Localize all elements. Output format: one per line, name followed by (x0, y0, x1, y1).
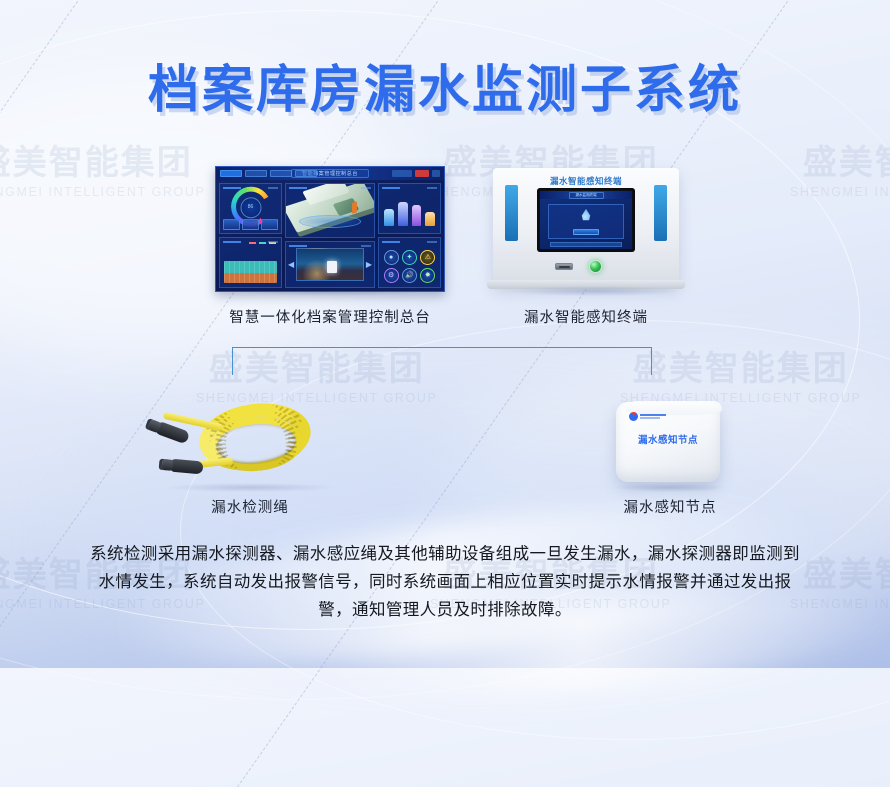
watermark-cn: 盛美智能集团 (790, 146, 890, 182)
terminal-shadow (509, 286, 679, 296)
section-bracket-line (232, 347, 652, 375)
watermark: 盛美智能集团 SHENGMEI INTELLIGENT GROUP (790, 146, 890, 202)
dashboard-column-middle: ◀ ▶ (285, 183, 375, 288)
brand-mark-icon (629, 412, 638, 421)
alert-icon[interactable]: ⚠ (420, 250, 435, 265)
terminal-screen[interactable]: 漏水监测终端 (537, 188, 635, 252)
dashboard-header-right (392, 170, 440, 177)
brand-logo (629, 412, 666, 421)
dashboard-column-left: 86 (219, 183, 282, 288)
access-control-icon[interactable]: ✸ (420, 268, 435, 283)
device-icon[interactable]: ⚙ (384, 268, 399, 283)
bar-chart (384, 196, 435, 226)
terminal-ui-header: 漏水监测终端 (540, 191, 632, 199)
terminal-ui-title: 漏水监测终端 (569, 192, 604, 199)
terminal-device-label: 漏水智能感知终端 (493, 175, 679, 187)
product-console: 智能档案管理控制总台 86 (196, 166, 464, 327)
terminal-left-accent (505, 185, 518, 241)
model-podium (299, 215, 361, 228)
terminal-right-accent (654, 185, 667, 241)
panel-video-monitor[interactable]: ◀ ▶ (285, 241, 375, 288)
product-node: 漏水感知节点 漏水感知节点 (590, 400, 750, 517)
status-indicator-button[interactable] (589, 260, 602, 273)
panel-trend-chart[interactable] (219, 237, 282, 288)
watermark-en: SHENGMEI INTELLIGENT GROUP (790, 594, 890, 614)
terminal-confirm-button[interactable] (573, 229, 599, 235)
panel-realtime-bars[interactable] (378, 183, 441, 234)
panel-3d-model[interactable] (285, 183, 375, 238)
terminal-device[interactable]: 漏水智能感知终端 漏水监测终端 (493, 168, 679, 286)
panel-environment-gauge[interactable]: 86 (219, 183, 282, 234)
watermark-en: SHENGMEI INTELLIGENT GROUP (790, 182, 890, 202)
video-thumbnail (296, 248, 364, 281)
rope-connector-upper (154, 421, 190, 445)
node-shadow (614, 483, 726, 492)
leak-sensor-node: 漏水感知节点 (610, 400, 730, 492)
watermark-cn: 盛美智能集团 (620, 352, 861, 388)
node-caption: 漏水感知节点 (590, 496, 750, 517)
watermark: 盛美智能集团 SHENGMEI INTELLIGENT GROUP (0, 146, 205, 202)
watermark-cn: 盛美智能集团 (0, 146, 205, 182)
rope-shadow (165, 483, 335, 492)
rope-caption: 漏水检测绳 (120, 496, 380, 517)
chart-legend (249, 242, 276, 244)
next-arrow-icon[interactable]: ▶ (366, 261, 372, 269)
rope-connector-lower (168, 459, 203, 475)
node-face-text: 漏水感知节点 (616, 432, 720, 446)
product-terminal: 漏水智能感知终端 漏水监测终端 漏水智能感知终端 (486, 168, 686, 327)
gauge-stat-chips (223, 219, 278, 230)
panel-function-menu[interactable]: ● ✦ ⚠ ⚙ 🔊 ✸ (378, 237, 441, 288)
environment-icon[interactable]: ✦ (402, 250, 417, 265)
prev-arrow-icon[interactable]: ◀ (288, 261, 294, 269)
dashboard-column-right: ● ✦ ⚠ ⚙ 🔊 ✸ (378, 183, 441, 288)
terminal-caption: 漏水智能感知终端 (486, 306, 686, 327)
dashboard-screen[interactable]: 智能档案管理控制总台 86 (215, 166, 445, 292)
watermark: 盛美智能集团 SHENGMEI INTELLIGENT GROUP (790, 558, 890, 614)
person-icon[interactable]: ● (384, 250, 399, 265)
trend-waveform (224, 261, 277, 283)
terminal-port-icon (555, 263, 573, 270)
terminal-screen-ui: 漏水监测终端 (540, 191, 632, 249)
dashboard-header: 智能档案管理控制总台 (216, 167, 444, 180)
page-title-container: 档案库房漏水监测子系统 (0, 48, 890, 122)
watermark-en: SHENGMEI INTELLIGENT GROUP (0, 182, 205, 202)
function-icon-grid: ● ✦ ⚠ ⚙ 🔊 ✸ (383, 249, 436, 283)
watermark-cn: 盛美智能集团 (790, 558, 890, 594)
console-caption: 智慧一体化档案管理控制总台 (196, 306, 464, 327)
gauge-value: 86 (240, 197, 261, 218)
fire-alarm-icon[interactable]: 🔊 (402, 268, 417, 283)
product-rope: 漏水检测绳 (120, 398, 380, 517)
dashboard-tabs[interactable] (220, 170, 317, 177)
dashboard-body: 86 ◀ ▶ (216, 180, 444, 291)
description-paragraph: 系统检测采用漏水探测器、漏水感应绳及其他辅助设备组成一旦发生漏水，漏水探测器即监… (88, 540, 802, 624)
node-body: 漏水感知节点 (616, 402, 720, 482)
brand-wordmark (640, 414, 666, 419)
leak-detection-rope (135, 398, 365, 490)
terminal-ui-footer (550, 242, 622, 247)
page-title: 档案库房漏水监测子系统 (148, 48, 742, 122)
